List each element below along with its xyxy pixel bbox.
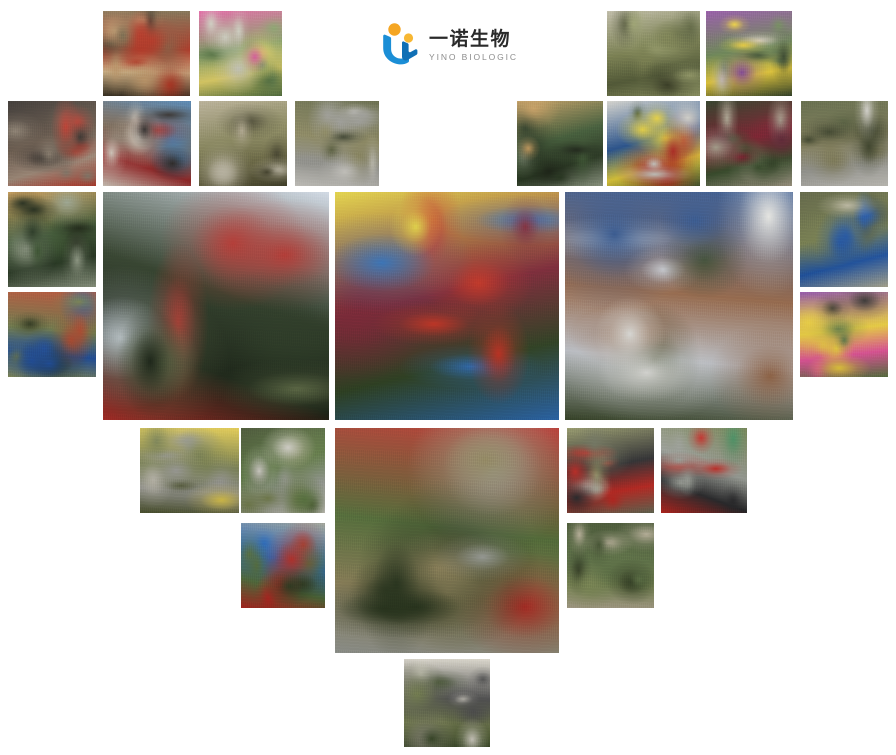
- photo-image: [567, 523, 654, 608]
- gallery-photo[interactable]: [241, 523, 325, 608]
- gallery-photo[interactable]: [140, 428, 239, 513]
- gallery-photo[interactable]: [517, 101, 603, 186]
- gallery-photo[interactable]: [706, 11, 792, 96]
- photo-image: [567, 428, 654, 513]
- photo-image: [241, 523, 325, 608]
- photo-image: [295, 101, 379, 186]
- gallery-photo[interactable]: [607, 11, 700, 96]
- photo-image: [517, 101, 603, 186]
- photo-image: [103, 192, 329, 420]
- gallery-photo[interactable]: [800, 192, 888, 287]
- photo-image: [800, 292, 888, 377]
- gallery-photo[interactable]: [103, 11, 190, 96]
- brand-text: 一诺生物 YINO BIOLOGIC: [429, 26, 518, 62]
- yino-people-logo-icon: [380, 22, 422, 66]
- photo-image: [8, 192, 96, 287]
- photo-image: [8, 292, 96, 377]
- gallery-photo[interactable]: [199, 11, 282, 96]
- photo-image: [241, 428, 325, 513]
- photo-image: [404, 659, 490, 747]
- gallery-photo[interactable]: [103, 192, 329, 420]
- photo-image: [199, 11, 282, 96]
- brand-logo: 一诺生物 YINO BIOLOGIC: [380, 20, 510, 68]
- gallery-photo[interactable]: [404, 659, 490, 747]
- photo-image: [199, 101, 287, 186]
- brand-name-en: YINO BIOLOGIC: [429, 52, 518, 62]
- brand-name-cn: 一诺生物: [429, 29, 518, 50]
- gallery-photo[interactable]: [295, 101, 379, 186]
- photo-image: [103, 11, 190, 96]
- gallery-photo[interactable]: [8, 192, 96, 287]
- gallery-photo[interactable]: [567, 428, 654, 513]
- gallery-photo[interactable]: [199, 101, 287, 186]
- photo-image: [607, 11, 700, 96]
- photo-image: [801, 101, 888, 186]
- gallery-photo[interactable]: [567, 523, 654, 608]
- gallery-photo[interactable]: [706, 101, 792, 186]
- photo-image: [335, 428, 559, 653]
- photo-image: [800, 192, 888, 287]
- gallery-photo[interactable]: [335, 428, 559, 653]
- gallery-photo[interactable]: [103, 101, 191, 186]
- photo-image: [607, 101, 700, 186]
- photo-image: [706, 101, 792, 186]
- gallery-photo[interactable]: [607, 101, 700, 186]
- photo-image: [8, 101, 96, 186]
- gallery-photo[interactable]: [241, 428, 325, 513]
- gallery-photo[interactable]: [8, 292, 96, 377]
- photo-image: [706, 11, 792, 96]
- photo-image: [335, 192, 559, 420]
- gallery-photo[interactable]: [565, 192, 793, 420]
- photo-image: [103, 101, 191, 186]
- photo-image: [565, 192, 793, 420]
- gallery-photo[interactable]: [801, 101, 888, 186]
- photo-gallery-root: 一诺生物 YINO BIOLOGIC: [0, 0, 896, 755]
- gallery-photo[interactable]: [335, 192, 559, 420]
- gallery-photo[interactable]: [661, 428, 747, 513]
- photo-image: [140, 428, 239, 513]
- photo-image: [661, 428, 747, 513]
- gallery-photo[interactable]: [800, 292, 888, 377]
- gallery-photo[interactable]: [8, 101, 96, 186]
